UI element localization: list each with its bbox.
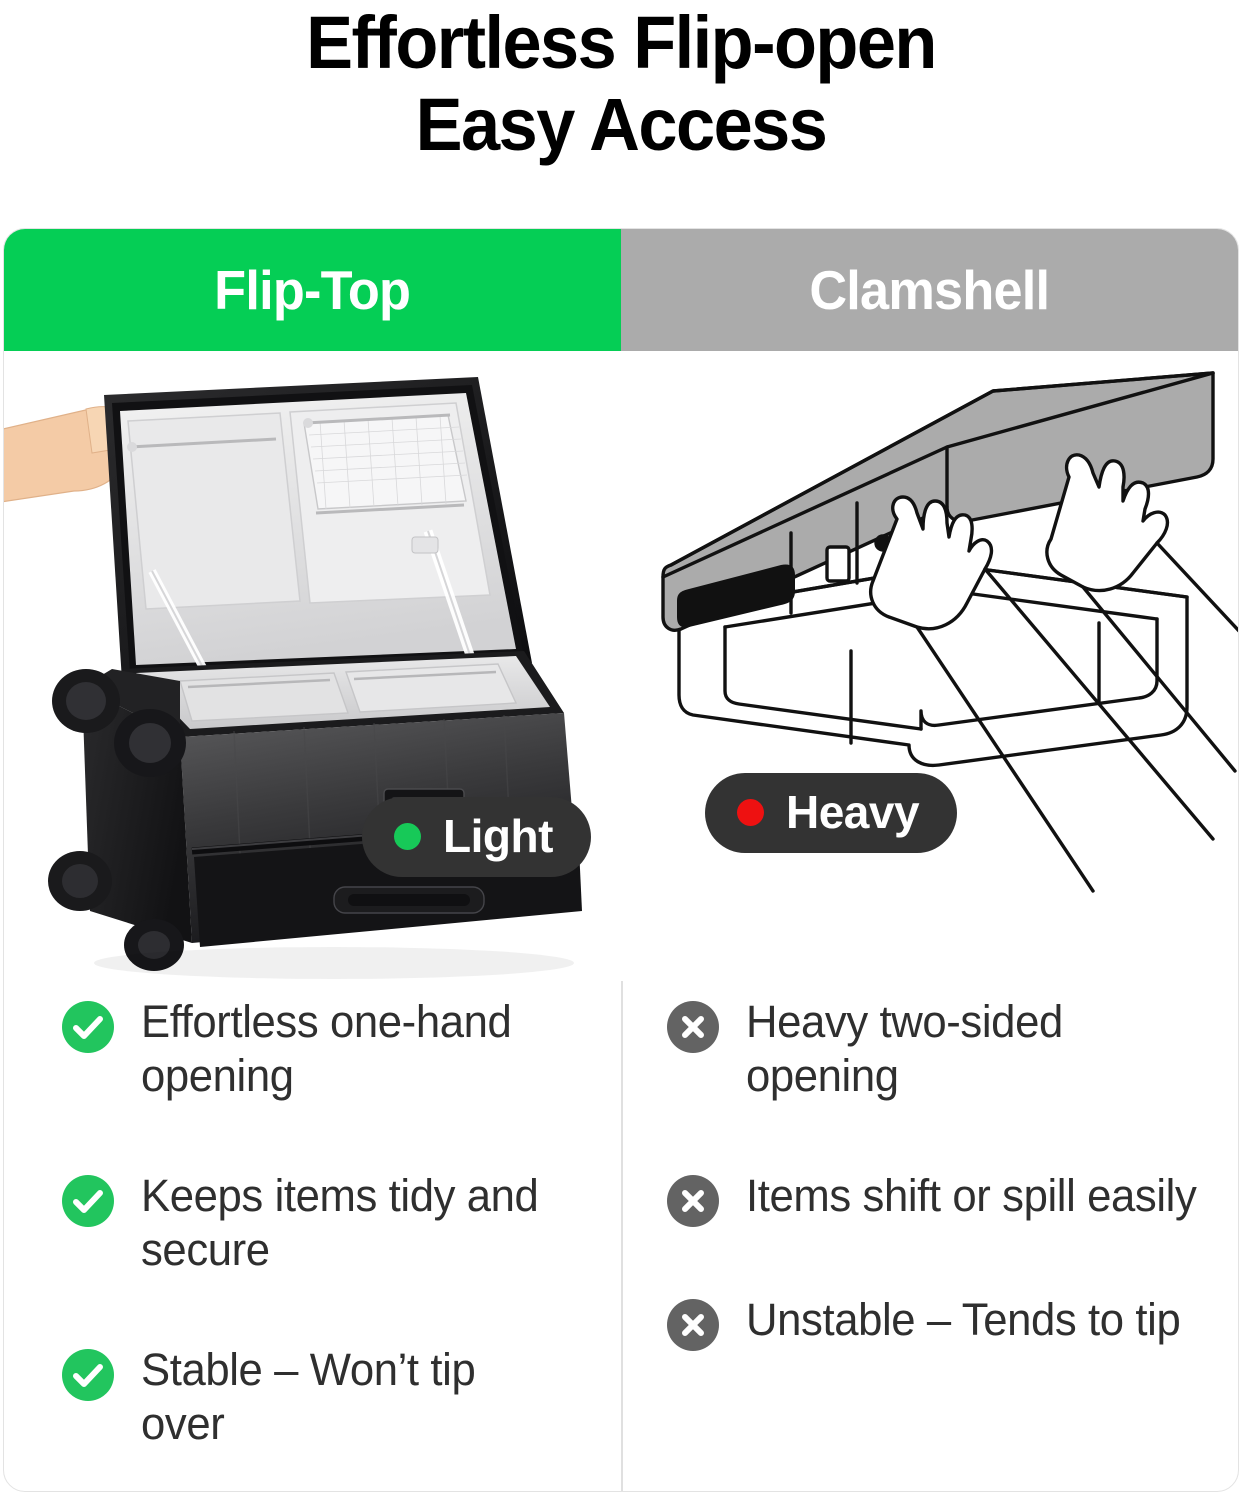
check-circle-icon: [62, 1349, 114, 1401]
list-item-label: Stable – Won’t tip over: [141, 1343, 564, 1451]
column-header-flip-top-label: Flip-Top: [214, 261, 410, 319]
comparison-body: Light Effortless one-hand opening: [4, 351, 1238, 1491]
comparison-card: Flip-Top Clamshell: [3, 228, 1239, 1492]
light-badge: Light: [362, 797, 591, 877]
clamshell-illustration: Heavy: [621, 351, 1238, 981]
flip-top-product-photo: Light: [4, 351, 621, 981]
list-item-label: Items shift or spill easily: [746, 1169, 1196, 1223]
list-item: Effortless one-hand opening: [62, 995, 577, 1103]
red-dot-icon: [737, 799, 764, 826]
comparison-header-row: Flip-Top Clamshell: [4, 229, 1238, 351]
column-header-clamshell: Clamshell: [621, 229, 1238, 351]
cross-circle-icon: [667, 1001, 719, 1053]
list-item-label: Heavy two-sided opening: [746, 995, 1198, 1103]
heavy-badge: Heavy: [705, 773, 957, 853]
clamshell-feature-list: Heavy two-sided opening Items shift or s…: [621, 981, 1238, 1351]
check-circle-icon: [62, 1175, 114, 1227]
check-circle-icon: [62, 1001, 114, 1053]
page-title: Effortless Flip-open Easy Access: [0, 0, 1242, 166]
list-item: Keeps items tidy and secure: [62, 1169, 577, 1277]
cross-circle-icon: [667, 1175, 719, 1227]
list-item-label: Keeps items tidy and secure: [141, 1169, 564, 1277]
comparison-infographic: Effortless Flip-open Easy Access Flip-To…: [0, 0, 1242, 1500]
column-flip-top: Light Effortless one-hand opening: [4, 351, 621, 1491]
column-header-flip-top: Flip-Top: [4, 229, 621, 351]
heavy-badge-label: Heavy: [786, 788, 919, 836]
list-item: Heavy two-sided opening: [667, 995, 1212, 1103]
title-line-1: Effortless Flip-open: [31, 2, 1211, 84]
list-item-label: Effortless one-hand opening: [141, 995, 564, 1103]
light-badge-label: Light: [443, 812, 553, 860]
green-dot-icon: [394, 823, 421, 850]
list-item: Items shift or spill easily: [667, 1169, 1212, 1227]
list-item-label: Unstable – Tends to tip: [746, 1293, 1180, 1347]
list-item: Unstable – Tends to tip: [667, 1293, 1212, 1351]
cross-circle-icon: [667, 1299, 719, 1351]
list-item: Stable – Won’t tip over: [62, 1343, 577, 1451]
title-line-2: Easy Access: [31, 84, 1211, 166]
column-header-clamshell-label: Clamshell: [809, 261, 1049, 319]
column-clamshell: Heavy Heavy two-sided opening I: [621, 351, 1238, 1491]
flip-top-feature-list: Effortless one-hand opening Keeps items …: [4, 981, 621, 1451]
